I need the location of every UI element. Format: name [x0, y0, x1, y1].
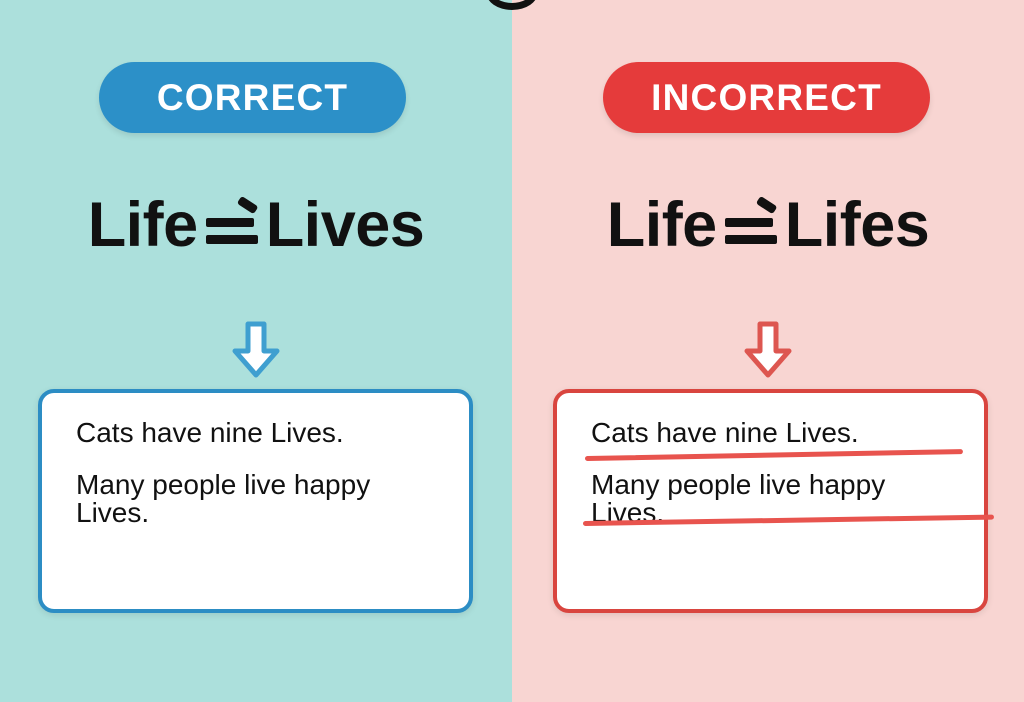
correct-badge: CORRECT	[99, 62, 406, 133]
correct-example-card: Cats have nine Lives. Many people live h…	[38, 389, 473, 613]
correct-headline-plural: Lives	[266, 190, 425, 260]
correct-card-text: Cats have nine Lives. Many people live h…	[76, 419, 451, 527]
incorrect-headline: LifeLifes	[512, 189, 1024, 261]
harpoon-over-bar-arrow-icon	[204, 200, 260, 252]
incorrect-badge-label: INCORRECT	[651, 77, 882, 119]
harpoon-over-bar-arrow-icon	[723, 200, 779, 252]
incorrect-headline-singular: Life	[607, 190, 717, 260]
incorrect-badge: INCORRECT	[603, 62, 930, 133]
incorrect-column: INCORRECT LifeLifes Cats have nine Lives…	[512, 0, 1024, 702]
down-arrow-icon	[229, 321, 283, 379]
correct-example-line: Cats have nine Lives.	[76, 419, 451, 447]
incorrect-example-card: Cats have nine Lives. Many people live h…	[553, 389, 988, 613]
incorrect-headline-plural: Lifes	[785, 190, 930, 260]
correct-headline: LifeLives	[0, 189, 512, 261]
down-arrow-icon	[741, 321, 795, 379]
correct-headline-singular: Life	[88, 190, 198, 260]
incorrect-example-line: Cats have nine Lives.	[591, 419, 966, 447]
correct-column: CORRECT LifeLives Cats have nine Lives. …	[0, 0, 512, 702]
incorrect-card-text: Cats have nine Lives. Many people live h…	[591, 419, 966, 527]
correct-badge-label: CORRECT	[157, 77, 348, 119]
correct-example-line: Many people live happy Lives.	[76, 471, 451, 527]
comparison-graphic: CORRECT LifeLives Cats have nine Lives. …	[0, 0, 1024, 702]
